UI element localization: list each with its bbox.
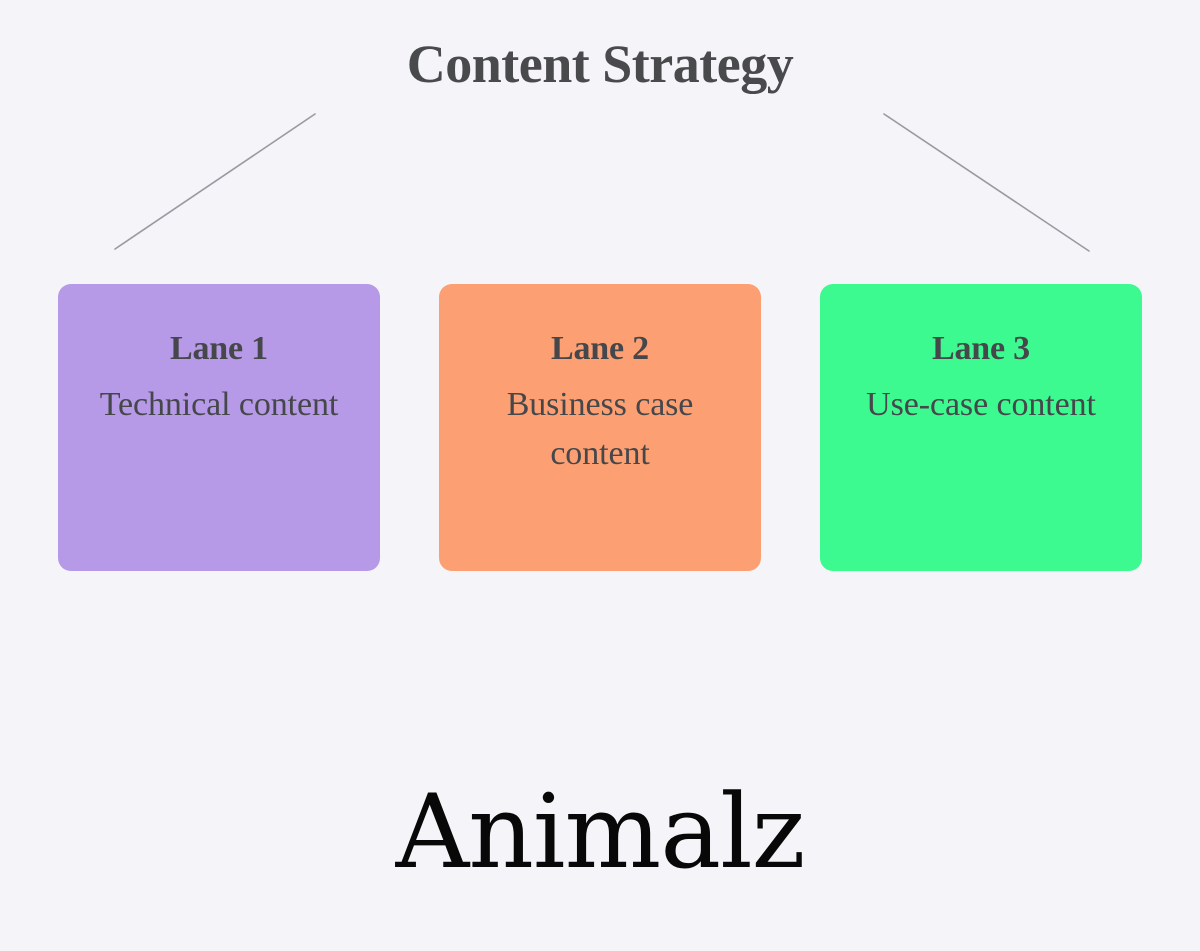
- connector-line-right: [884, 114, 1089, 251]
- lane-card-2[interactable]: Lane 2 Business case content: [439, 284, 761, 571]
- lane-card-2-description: Business case content: [439, 381, 761, 478]
- lane-card-1[interactable]: Lane 1 Technical content: [58, 284, 380, 571]
- connector-line-left: [115, 114, 315, 249]
- lane-card-3[interactable]: Lane 3 Use-case content: [820, 284, 1142, 571]
- lane-card-2-title: Lane 2: [551, 330, 649, 367]
- lanes-row: Lane 1 Technical content Lane 2 Business…: [58, 284, 1142, 571]
- lane-card-3-description: Use-case content: [852, 381, 1110, 429]
- diagram-canvas: Content Strategy Lane 1 Technical conten…: [0, 0, 1200, 951]
- brand-logo-animalz: Animalz: [0, 782, 1200, 884]
- page-title: Content Strategy: [0, 36, 1200, 93]
- lane-card-1-description: Technical content: [86, 381, 353, 429]
- lane-card-1-title: Lane 1: [170, 330, 268, 367]
- lane-card-3-title: Lane 3: [932, 330, 1030, 367]
